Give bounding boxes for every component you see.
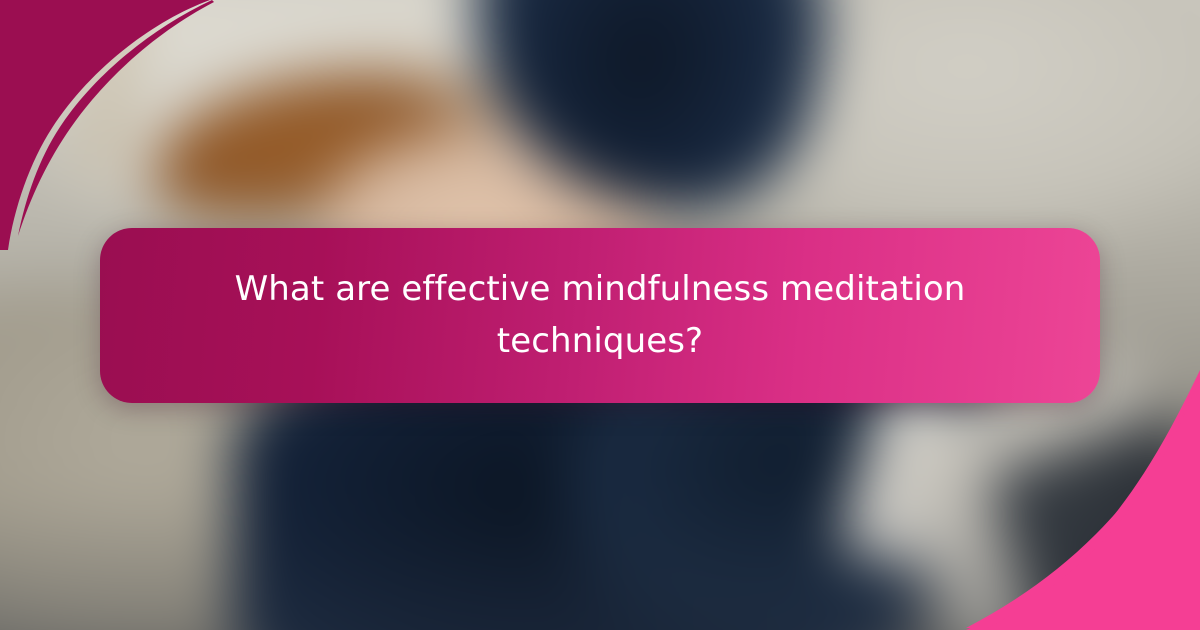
- question-card: What are effective mindfulness meditatio…: [100, 228, 1100, 403]
- screenshot-canvas: What are effective mindfulness meditatio…: [0, 0, 1200, 630]
- background-bottom-vignette: [0, 493, 1200, 630]
- question-text: What are effective mindfulness meditatio…: [220, 264, 980, 367]
